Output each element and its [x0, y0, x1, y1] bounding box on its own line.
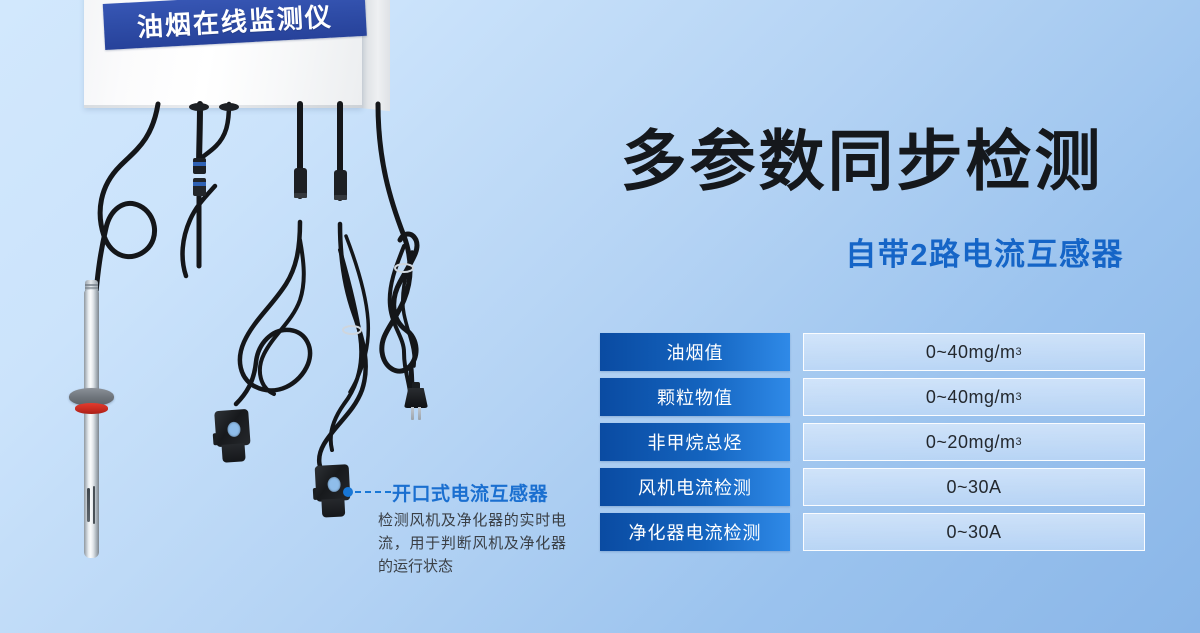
content-panel: 多参数同步检测 自带2路电流互感器 油烟值0~40mg/m3颗粒物值0~40mg… [560, 0, 1200, 633]
spec-row-gap [790, 513, 803, 551]
spec-row: 油烟值0~40mg/m3 [600, 333, 1145, 371]
stainless-probe-sensor [78, 290, 104, 558]
plug-pin [411, 407, 414, 420]
spec-row-value: 0~40mg/m3 [803, 333, 1145, 371]
callout-leader-line [355, 491, 391, 493]
spec-row-label: 非甲烷总烃 [600, 423, 790, 461]
clamp-body [214, 409, 250, 447]
spec-row-gap [790, 423, 803, 461]
spec-row: 非甲烷总烃0~20mg/m3 [600, 423, 1145, 461]
spec-row: 风机电流检测0~30A [600, 468, 1145, 506]
spec-row-label: 油烟值 [600, 333, 790, 371]
callout-description: 检测风机及净化器的实时电流，用于判断风机及净化器的运行状态 [378, 509, 566, 578]
spec-row-value: 0~40mg/m3 [803, 378, 1145, 416]
spec-row-label: 风机电流检测 [600, 468, 790, 506]
spec-row: 净化器电流检测0~30A [600, 513, 1145, 551]
two-prong-power-plug [401, 382, 431, 422]
product-photo: 油烟在线监测仪 [0, 0, 560, 633]
clamp-foot [222, 443, 246, 463]
spec-row-value: 0~30A [803, 513, 1145, 551]
plug-body [404, 388, 428, 408]
spec-row-label: 颗粒物值 [600, 378, 790, 416]
callout-title: 开口式电流互感器 [392, 479, 548, 506]
specification-table: 油烟值0~40mg/m3颗粒物值0~40mg/m3非甲烷总烃0~20mg/m3风… [600, 333, 1145, 558]
callout-marker-dot [343, 487, 353, 497]
plug-pin [418, 407, 421, 420]
clamp-foot [321, 498, 345, 517]
spec-row-value: 0~20mg/m3 [803, 423, 1145, 461]
spec-row-label: 净化器电流检测 [600, 513, 790, 551]
spec-row: 颗粒物值0~40mg/m3 [600, 378, 1145, 416]
probe-gasket-ring [75, 403, 108, 414]
spec-row-gap [790, 468, 803, 506]
clamp-aperture [327, 477, 341, 493]
current-transformer-clamp [211, 409, 255, 466]
clamp-aperture [227, 421, 241, 437]
probe-intake-slot [93, 486, 95, 524]
spec-row-gap [790, 378, 803, 416]
probe-intake-slot [87, 488, 90, 522]
promo-banner: 油烟在线监测仪 [0, 0, 1200, 633]
headline-title: 多参数同步检测 [582, 108, 1142, 204]
headline-subtitle: 自带2路电流互感器 [582, 229, 1142, 274]
spec-row-value: 0~30A [803, 468, 1145, 506]
spec-row-gap [790, 333, 803, 371]
